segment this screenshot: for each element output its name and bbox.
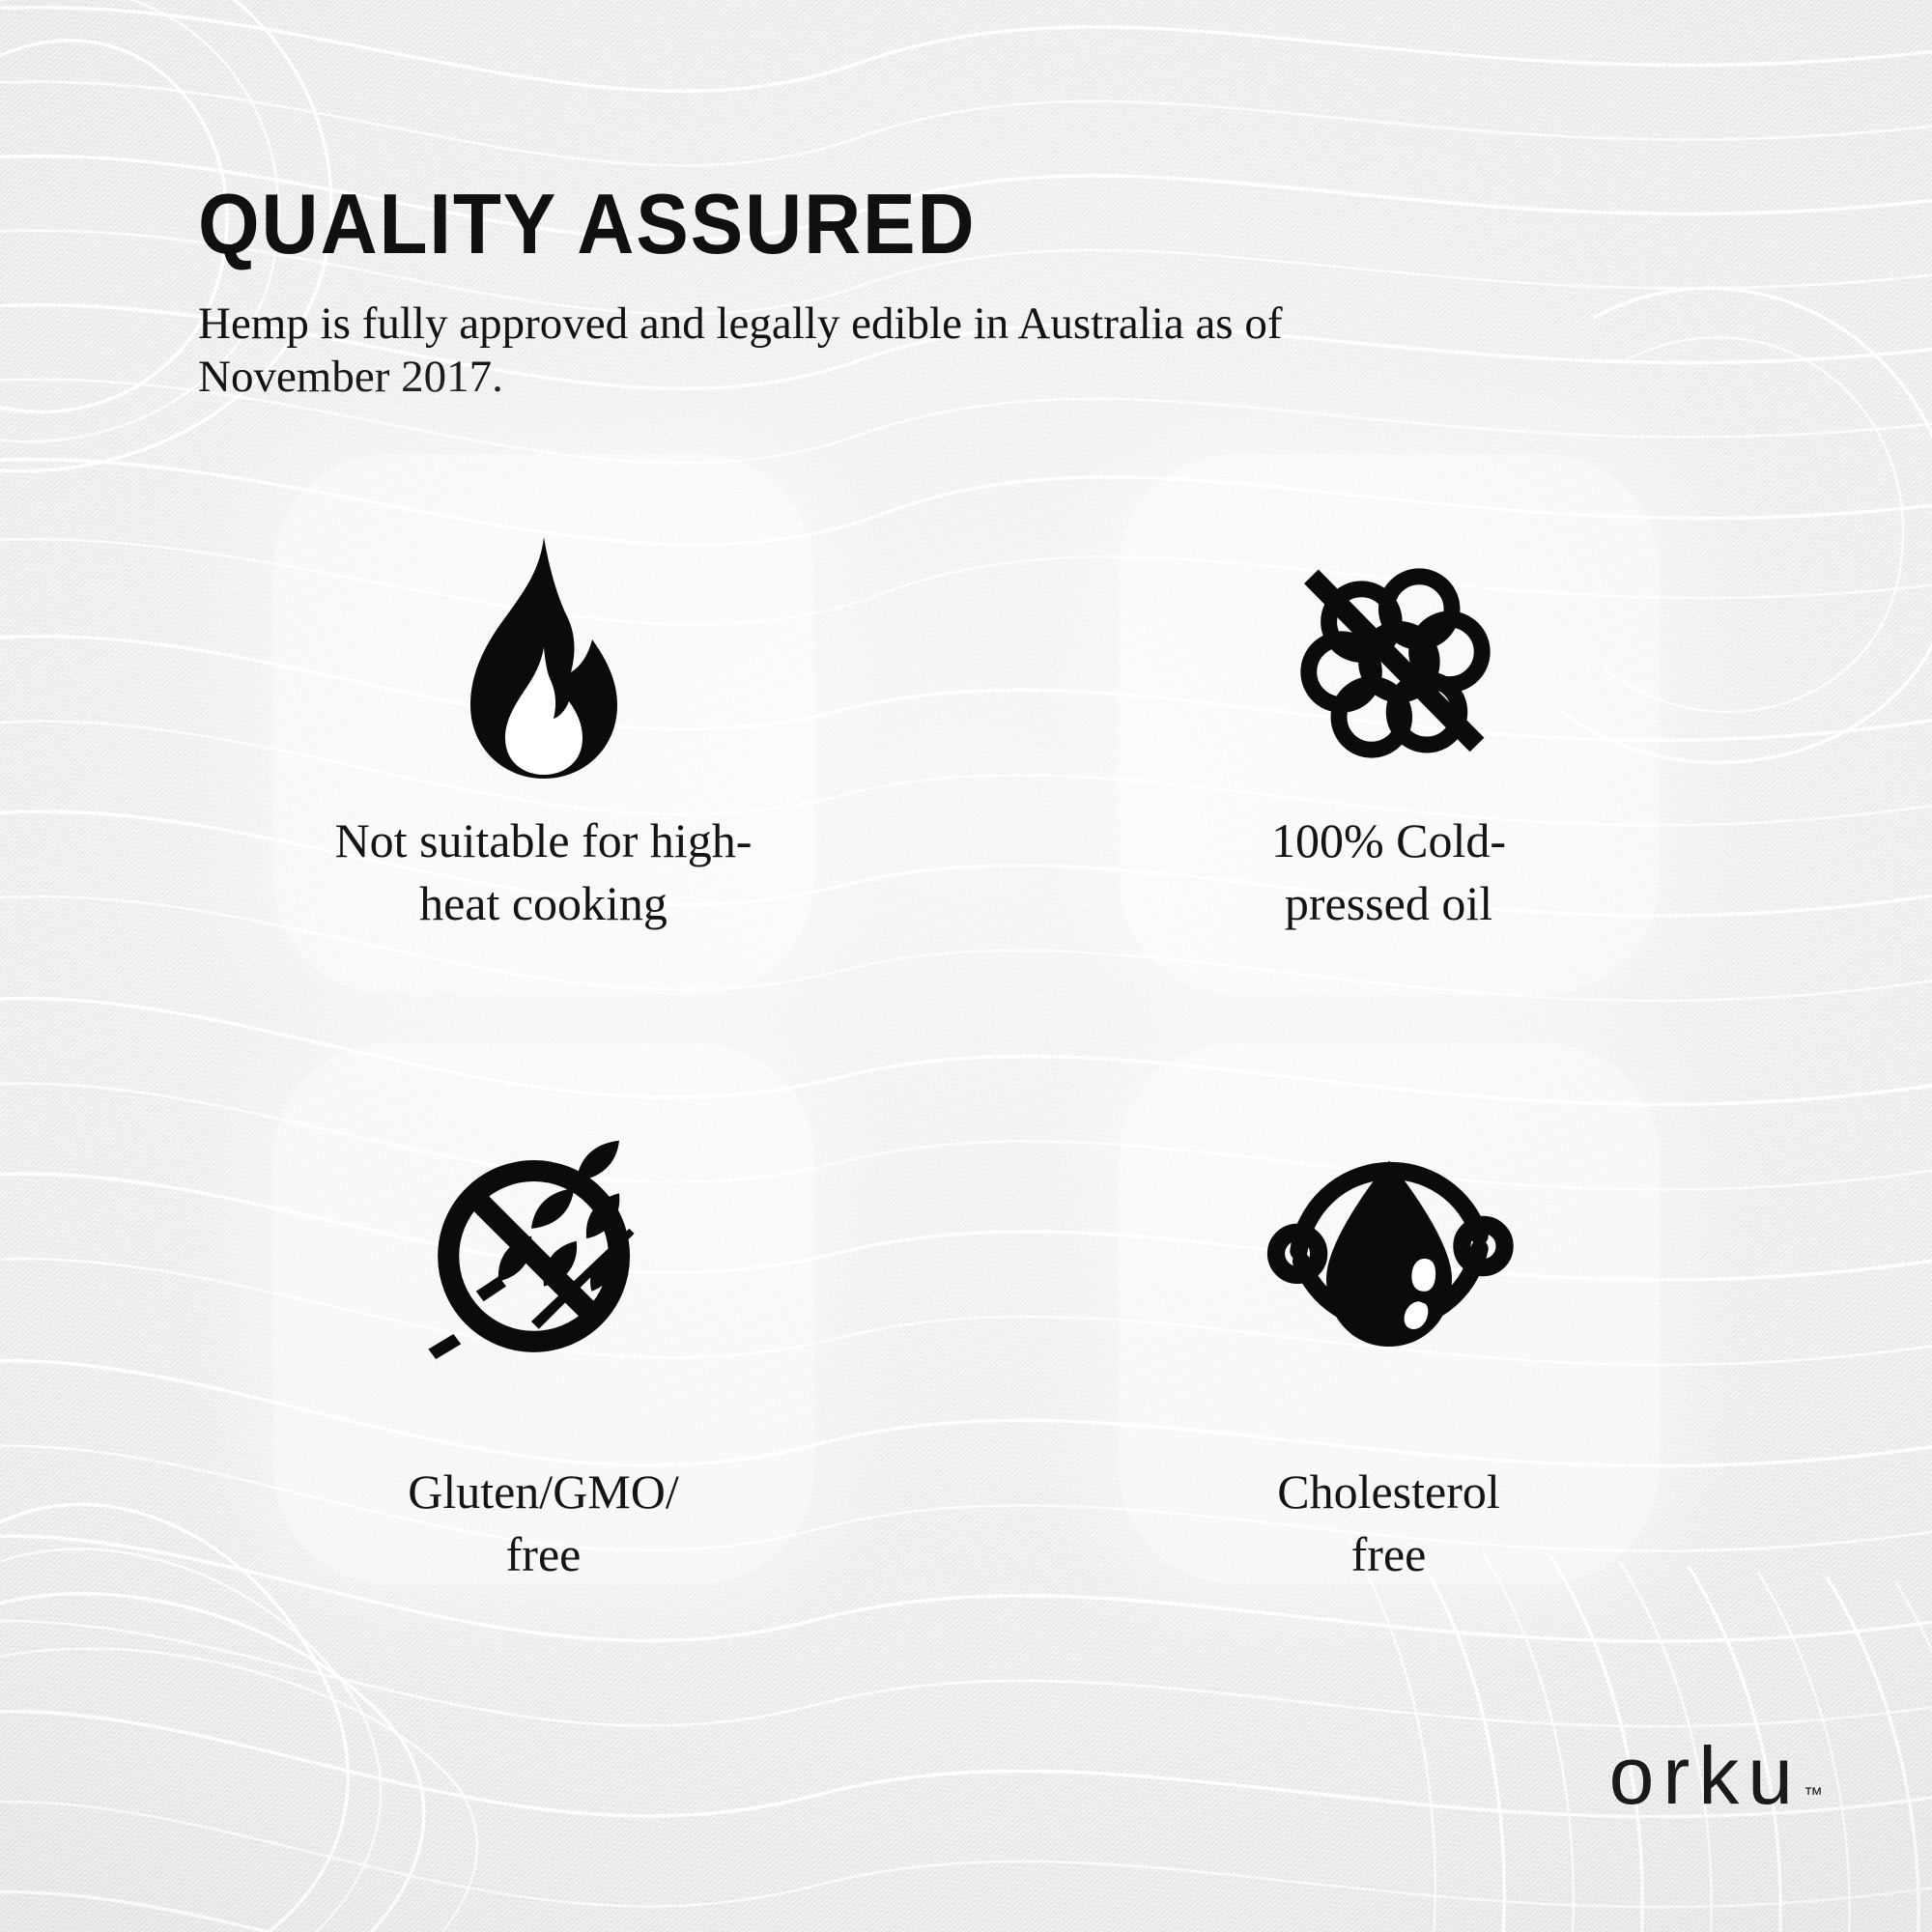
- brand-wordmark: orku: [1609, 1735, 1802, 1816]
- card-caption: Not suitable for high- heat cooking: [335, 810, 753, 935]
- caption-line-2: free: [1351, 1527, 1427, 1581]
- brand-logo: orku ™: [1609, 1735, 1824, 1816]
- poster-canvas: QUALITY ASSURED Hemp is fully approved a…: [0, 0, 1932, 1932]
- feature-card-grid: Not suitable for high- heat cooking: [193, 473, 1739, 1633]
- caption-line-1: 100% Cold-: [1271, 813, 1506, 867]
- oil-drop-icon: [1264, 1121, 1515, 1372]
- caption-line-1: Cholesterol: [1277, 1464, 1500, 1519]
- caption-line-2: free: [506, 1527, 582, 1581]
- trademark-symbol: ™: [1804, 1784, 1824, 1806]
- feature-card-cold-pressed: 100% Cold- pressed oil: [1038, 473, 1739, 1043]
- no-gluten-icon: [418, 1121, 669, 1372]
- caption-line-2: heat cooking: [419, 876, 668, 930]
- card-caption: Cholesterol free: [1277, 1461, 1500, 1586]
- card-caption: 100% Cold- pressed oil: [1271, 810, 1506, 935]
- card-caption: Gluten/GMO/ free: [408, 1461, 679, 1586]
- page-subtitle: Hemp is fully approved and legally edibl…: [198, 298, 1425, 405]
- flame-icon: [418, 531, 669, 782]
- caption-line-1: Gluten/GMO/: [408, 1464, 679, 1519]
- no-chemicals-icon: [1264, 531, 1515, 782]
- page-title: QUALITY ASSURED: [198, 184, 1393, 265]
- feature-card-gluten-gmo-free: Gluten/GMO/ free: [193, 1063, 894, 1633]
- header-block: QUALITY ASSURED Hemp is fully approved a…: [198, 184, 1483, 405]
- caption-line-2: pressed oil: [1285, 876, 1492, 930]
- feature-card-cholesterol-free: Cholesterol free: [1038, 1063, 1739, 1633]
- feature-card-not-suitable-high-heat: Not suitable for high- heat cooking: [193, 473, 894, 1043]
- caption-line-1: Not suitable for high-: [335, 813, 753, 867]
